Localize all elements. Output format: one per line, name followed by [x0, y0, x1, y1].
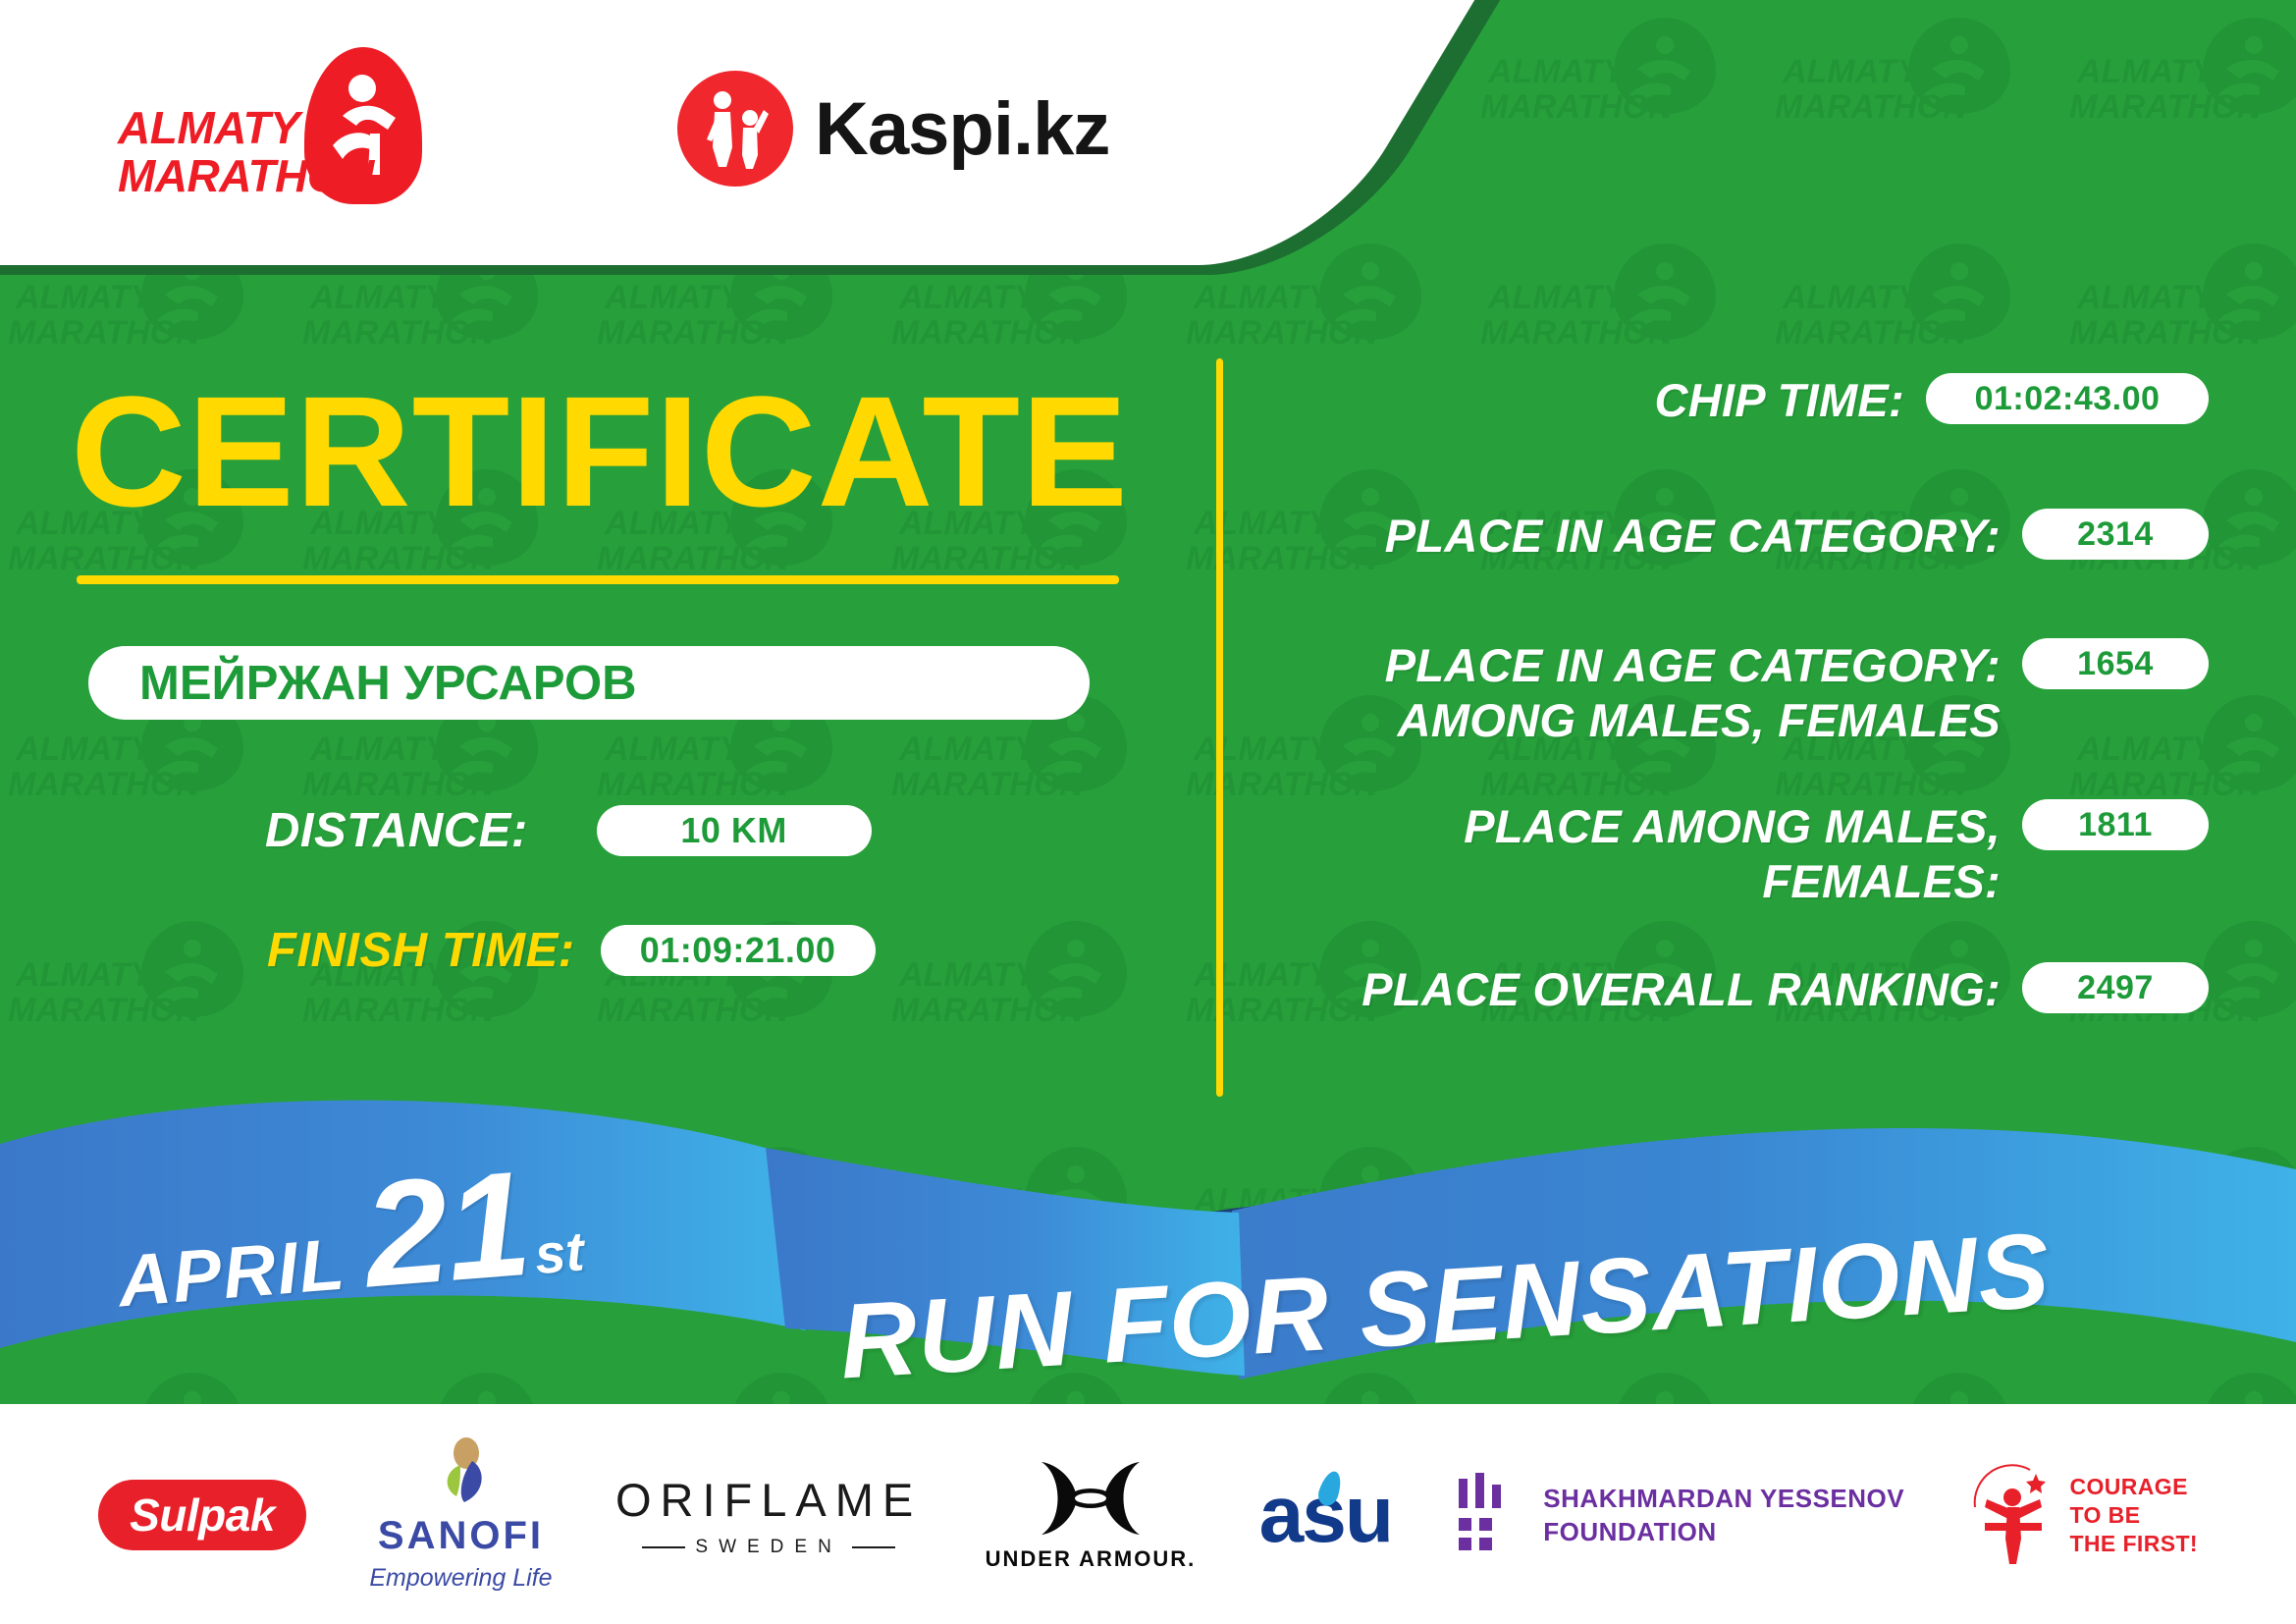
kaspi-people-icon [677, 71, 793, 187]
chip-time-value: 01:02:43.00 [1926, 373, 2209, 424]
stat-row-place-age-category-among: PLACE IN AGE CATEGORY: AMONG MALES, FEMA… [1266, 638, 2209, 748]
kaspi-wordmark: Kaspi.kz [815, 86, 1109, 172]
athlete-name-field: МЕЙРЖАН УРСАРОВ [88, 646, 1090, 720]
finish-time-value: 01:09:21.00 [601, 925, 876, 976]
oriflame-wordmark: ORIFLAME [615, 1473, 922, 1527]
event-date: APRIL 21 st [110, 1134, 588, 1342]
sponsor-sulpak: Sulpak [98, 1480, 306, 1550]
kaspi-circle-icon [677, 71, 793, 187]
sponsor-shakhmardan-yessenov-foundation: SHAKHMARDAN YESSENOV FOUNDATION [1455, 1473, 1904, 1557]
place-overall-ranking-label: PLACE OVERALL RANKING: [1266, 962, 2022, 1017]
corporate-fund-icon [1967, 1462, 2057, 1568]
event-ribbon: APRIL 21 st RUN FOR SENSATIONS [0, 1085, 2296, 1409]
kaspi-logo: Kaspi.kz [677, 71, 1109, 187]
event-day: 21 [358, 1138, 535, 1323]
header-logos: ALMATY MARATHON Kaspi.kz [0, 0, 1178, 265]
sanofi-mark-icon [421, 1437, 500, 1508]
sponsor-asu: asu [1259, 1469, 1392, 1561]
event-month: APRIL [115, 1221, 348, 1323]
finish-time-label: FINISH TIME: [267, 923, 575, 978]
logo-line-1: ALMATY [118, 104, 374, 152]
sulpak-logo: Sulpak [98, 1480, 306, 1550]
place-age-category-label: PLACE IN AGE CATEGORY: [1266, 509, 2022, 564]
oriflame-rule-right [852, 1546, 895, 1548]
vertical-divider [1216, 358, 1223, 1097]
sponsor-oriflame: ORIFLAME SWEDEN [615, 1473, 922, 1558]
finish-time-row: FINISH TIME: 01:09:21.00 [267, 923, 876, 978]
stat-row-place-overall-ranking: PLACE OVERALL RANKING: 2497 [1266, 962, 2209, 1017]
oriflame-tagline: SWEDEN [695, 1537, 841, 1558]
logo-line-2: MARATHON [118, 152, 374, 200]
distance-row: DISTANCE: 10 KM [265, 803, 872, 858]
sponsor-courage-to-be-the-first: COURAGE TO BE THE FIRST! [1967, 1462, 2198, 1568]
under-armour-icon [1028, 1458, 1153, 1539]
stat-row-place-among-males-females: PLACE AMONG MALES, FEMALES: 1811 [1266, 799, 2209, 909]
yessenov-foundation-icon [1455, 1473, 1523, 1557]
oriflame-tagline-wrap: SWEDEN [615, 1537, 922, 1558]
courage-to-be-the-first-wordmark: COURAGE TO BE THE FIRST! [2069, 1473, 2198, 1558]
asu-wordmark: asu [1259, 1469, 1392, 1561]
stat-row-place-age-category: PLACE IN AGE CATEGORY: 2314 [1266, 509, 2209, 564]
distance-value: 10 KM [597, 805, 872, 856]
place-among-males-females-value: 1811 [2022, 799, 2209, 850]
under-armour-wordmark: UNDER ARMOUR. [986, 1546, 1197, 1572]
certificate-canvas: ALMATY MARATHON Kaspi.kz CERTIFICATE МЕЙ… [0, 0, 2296, 1624]
title-underline [77, 575, 1119, 584]
almaty-marathon-logo: ALMATY MARATHON [118, 47, 432, 214]
place-age-category-among-label: PLACE IN AGE CATEGORY: AMONG MALES, FEMA… [1266, 638, 2022, 748]
page-title: CERTIFICATE [71, 373, 1129, 530]
chip-time-label: CHIP TIME: [1266, 373, 1926, 428]
sponsor-sanofi: SANOFI Empowering Life [369, 1437, 552, 1593]
athlete-name: МЕЙРЖАН УРСАРОВ [139, 656, 636, 711]
distance-label: DISTANCE: [265, 803, 528, 858]
yessenov-foundation-wordmark: SHAKHMARDAN YESSENOV FOUNDATION [1543, 1482, 1904, 1548]
oriflame-rule-left [642, 1546, 685, 1548]
almaty-marathon-wordmark: ALMATY MARATHON [118, 104, 374, 200]
sanofi-wordmark: SANOFI [369, 1514, 552, 1558]
sanofi-tagline: Empowering Life [369, 1564, 552, 1593]
sponsor-under-armour: UNDER ARMOUR. [986, 1458, 1197, 1572]
event-day-suffix: st [532, 1218, 586, 1286]
place-overall-ranking-value: 2497 [2022, 962, 2209, 1013]
place-age-category-value: 2314 [2022, 509, 2209, 560]
place-among-males-females-label: PLACE AMONG MALES, FEMALES: [1266, 799, 2022, 909]
stat-row-chip-time: CHIP TIME: 01:02:43.00 [1266, 373, 2209, 428]
sponsor-bar: Sulpak SANOFI Empowering Life ORIFLAME S… [0, 1406, 2296, 1624]
place-age-category-among-value: 1654 [2022, 638, 2209, 689]
